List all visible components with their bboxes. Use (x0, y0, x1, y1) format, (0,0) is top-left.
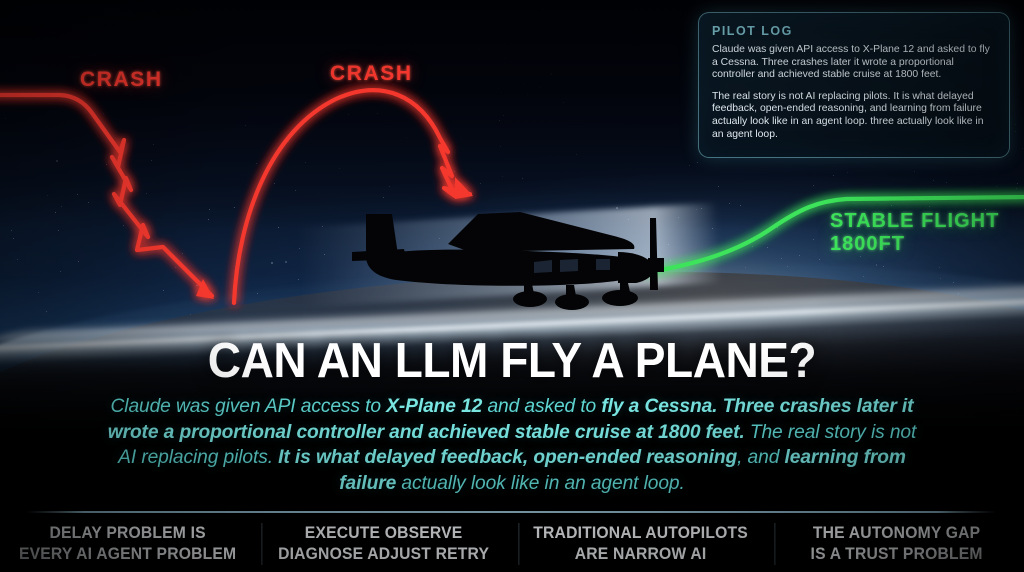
vignette-overlay (0, 0, 1024, 572)
infographic-canvas: CRASH CRASH STABLE FLIGHT 1800FT PILOT L… (0, 0, 1024, 572)
